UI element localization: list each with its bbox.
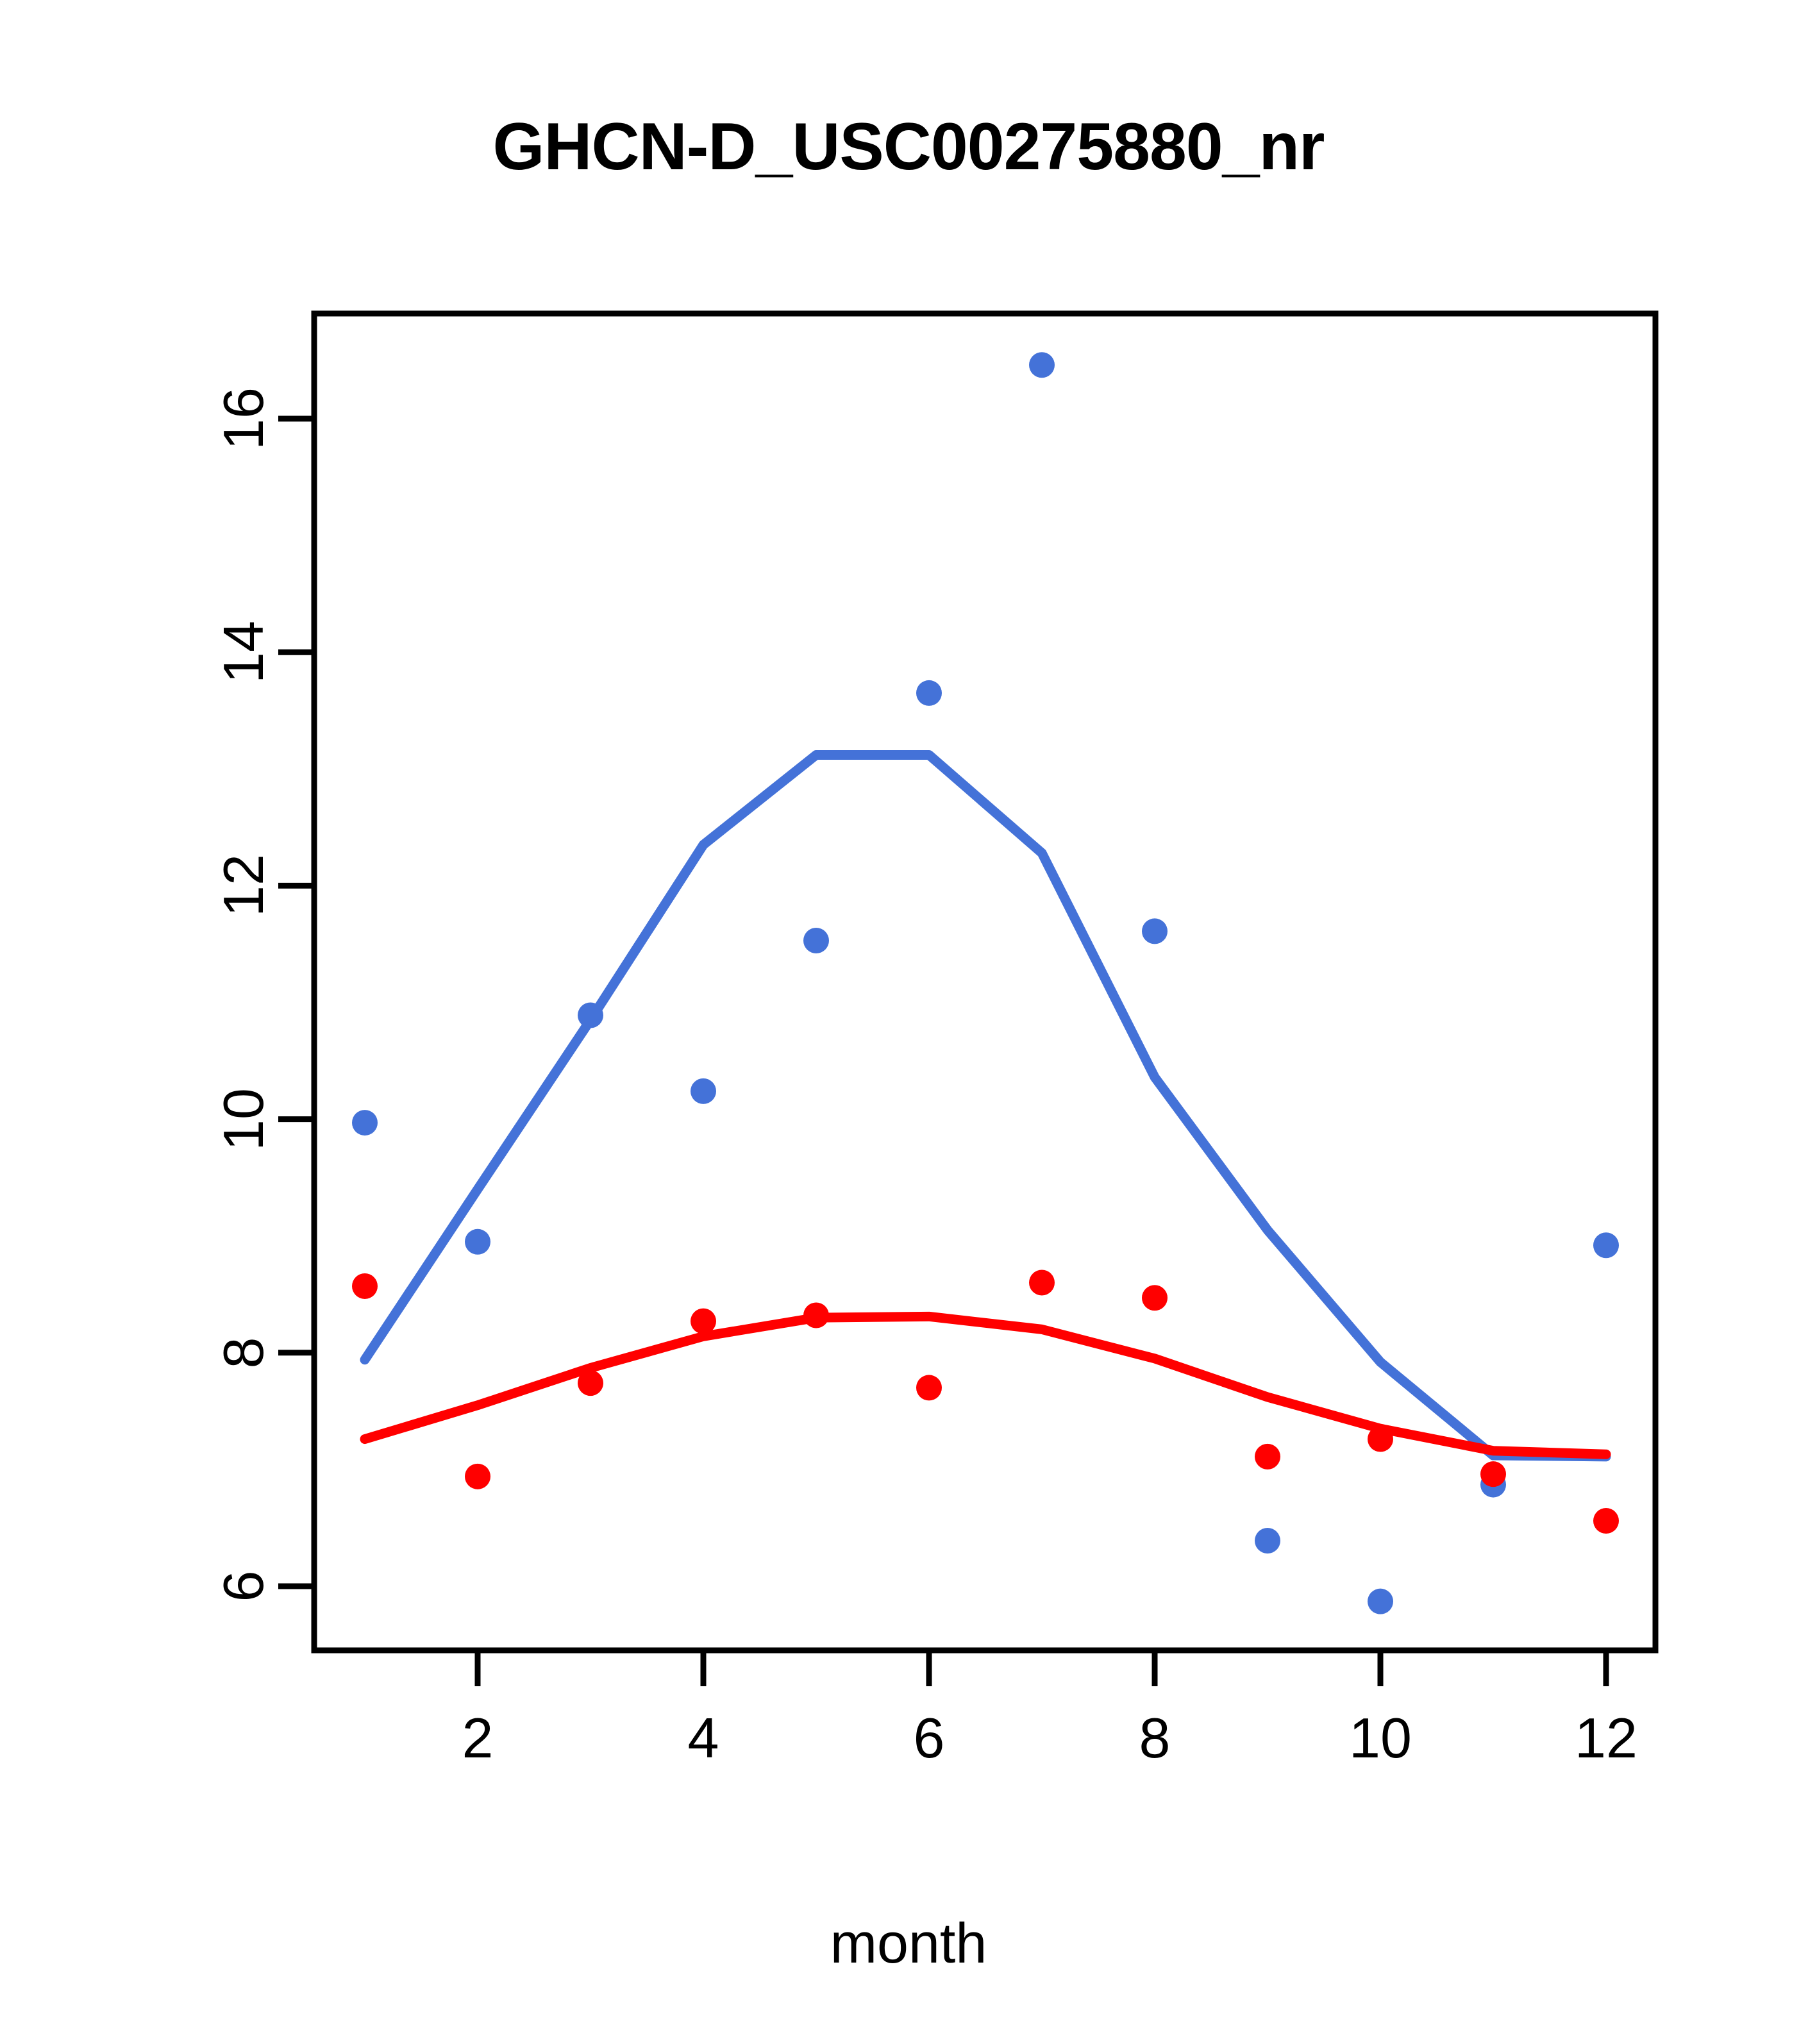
chart-page: GHCN-D_USC00275880_nr 24681012 681012141…	[0, 0, 1817, 2044]
x-axis-label: month	[0, 1911, 1817, 1976]
red-points-marker	[1593, 1508, 1619, 1534]
blue-points-marker	[352, 1110, 378, 1135]
blue-fit-line	[365, 755, 1606, 1456]
red-points-marker	[1029, 1270, 1055, 1296]
red-points-marker	[916, 1375, 942, 1400]
y-tick-label: 6	[208, 1535, 279, 1638]
x-tick-label: 8	[1139, 1705, 1171, 1771]
plot-area	[0, 0, 1817, 2044]
y-tick-label: 10	[208, 1068, 279, 1171]
red-points-marker	[803, 1303, 829, 1328]
red-points-marker	[1368, 1427, 1393, 1452]
red-fit-line	[365, 1316, 1606, 1454]
x-tick-label: 4	[688, 1705, 719, 1771]
red-points-marker	[1255, 1444, 1280, 1470]
x-tick-label: 2	[462, 1705, 494, 1771]
x-tick-label: 12	[1575, 1705, 1637, 1771]
blue-points-marker	[578, 1003, 603, 1028]
red-points-marker	[1480, 1461, 1506, 1487]
axis-ticks	[278, 419, 1606, 1686]
blue-points-marker	[1029, 352, 1055, 378]
red-points-marker	[578, 1370, 603, 1396]
y-tick-label: 16	[208, 367, 279, 470]
blue-points-marker	[465, 1229, 490, 1255]
fit-lines	[365, 755, 1606, 1456]
blue-points-marker	[803, 928, 829, 953]
y-tick-label: 8	[208, 1302, 279, 1404]
blue-points-marker	[691, 1078, 716, 1104]
plot-box	[314, 314, 1655, 1650]
data-points	[352, 352, 1619, 1614]
x-tick-label: 10	[1349, 1705, 1412, 1771]
red-points-marker	[352, 1273, 378, 1299]
blue-points-marker	[916, 680, 942, 706]
y-tick-label: 12	[208, 834, 279, 937]
blue-points-marker	[1593, 1232, 1619, 1258]
red-points-marker	[465, 1464, 490, 1489]
red-points-marker	[1142, 1285, 1168, 1311]
red-points-marker	[691, 1309, 716, 1334]
x-tick-label: 6	[914, 1705, 945, 1771]
blue-points-marker	[1142, 918, 1168, 944]
blue-points-marker	[1255, 1528, 1280, 1554]
y-tick-label: 14	[208, 601, 279, 703]
blue-points-marker	[1368, 1589, 1393, 1614]
